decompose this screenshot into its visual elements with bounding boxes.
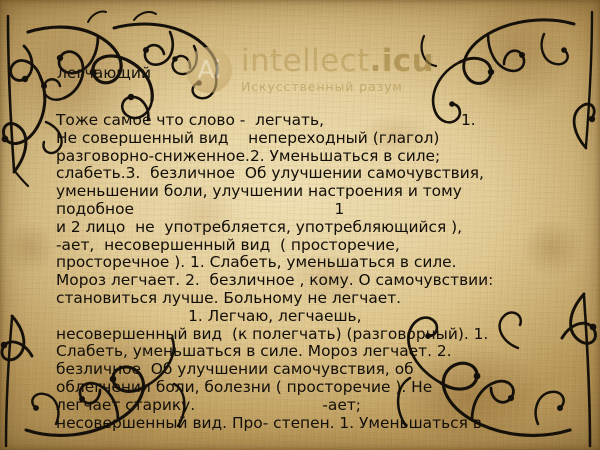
watermark-brand-name: intellect: [241, 43, 370, 79]
watermark: Ai intellect.icu Искусственный разум: [186, 46, 434, 94]
page-title: легчающий: [57, 64, 151, 82]
definition-line: и 2 лицо не употребляется, употребляющий…: [56, 219, 600, 237]
definition-line: Мороз легчает. 2. безличное , кому. О са…: [56, 272, 600, 290]
definition-text-block: Тоже самое что слово - легчать, 1.Не сов…: [56, 112, 600, 432]
definition-line: несовершенный вид (к полегчать) (разгово…: [56, 326, 600, 344]
definition-line: подобное 1: [56, 201, 600, 219]
definition-line: Не совершенный вид непереходный (глагол): [56, 130, 600, 148]
slide-canvas: Ai intellect.icu Искусственный разум лег…: [0, 0, 600, 450]
definition-line: безличное Об улучшении самочувствия, об: [56, 361, 600, 379]
definition-line: слабеть.3. безличное Об улучшении самочу…: [56, 165, 600, 183]
definition-line: уменьшении боли, улучшении настроения и …: [56, 183, 600, 201]
definition-line: 1. Легчаю, легчаешь,: [56, 308, 600, 326]
watermark-brand: intellect.icu: [241, 46, 434, 77]
ai-logo-text: Ai: [197, 57, 220, 82]
definition-line: просторечное ). 1. Слабеть, уменьшаться …: [56, 254, 600, 272]
watermark-subtitle: Искусственный разум: [241, 81, 434, 94]
definition-line: разговорно-сниженное.2. Уменьшаться в си…: [56, 148, 600, 166]
definition-line: Слабеть, уменьшаться в силе. Мороз легча…: [56, 343, 600, 361]
definition-line: Тоже самое что слово - легчать, 1.: [56, 112, 600, 130]
definition-line: становиться лучше. Больному не легчает.: [56, 290, 600, 308]
watermark-brand-tld: .icu: [370, 43, 434, 79]
definition-line: -ает, несовершенный вид ( просторечие,: [56, 237, 600, 255]
definition-line: легчает старику. -ает;: [56, 397, 600, 415]
watermark-text-group: intellect.icu Искусственный разум: [241, 46, 434, 94]
ai-logo-icon: Ai: [186, 47, 232, 93]
definition-line: несовершенный вид. Про- степен. 1. Умень…: [56, 415, 600, 433]
definition-line: облегчении боли, болезни ( просторечие )…: [56, 379, 600, 397]
